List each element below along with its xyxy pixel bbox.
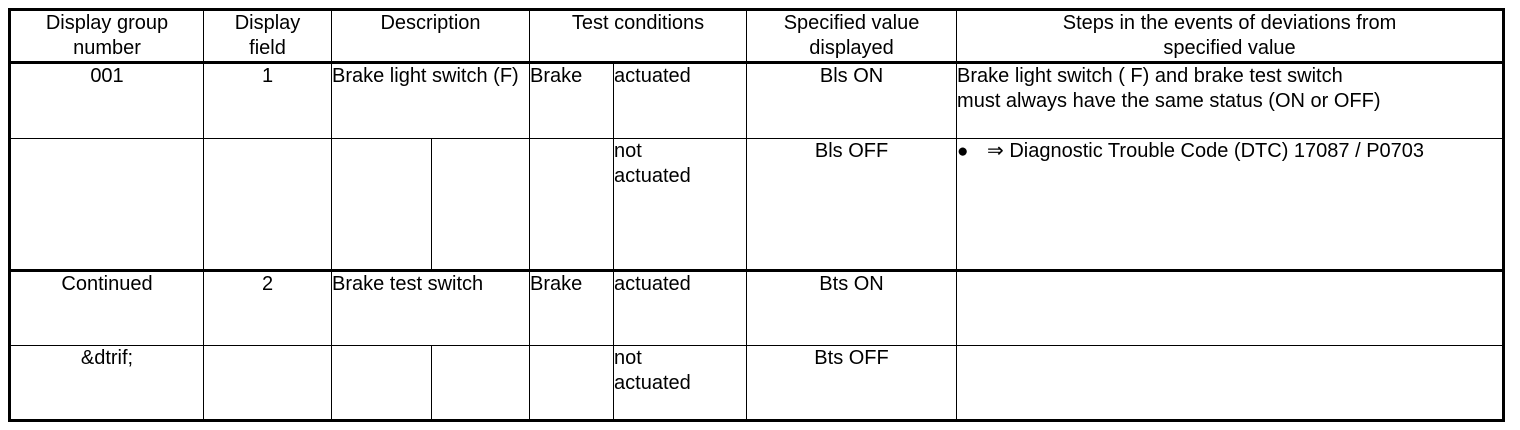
cell-test-condition-state: not actuated xyxy=(614,346,747,421)
cell-steps-on-deviation xyxy=(957,346,1504,421)
cell-display-field: 1 xyxy=(204,63,332,139)
header-display-group-number: Display group number xyxy=(10,10,204,63)
diagnostic-spec-table: Display group number Display field Descr… xyxy=(8,8,1505,422)
header-steps-on-deviation: Steps in the events of deviations from s… xyxy=(957,10,1504,63)
cell-display-group-number xyxy=(10,138,204,270)
cell-test-condition-subject xyxy=(530,138,614,270)
header-display-group-number-line2: number xyxy=(73,37,141,59)
table-row: &dtrif; not actuated Bts OFF xyxy=(10,346,1504,421)
cell-description-a xyxy=(332,138,432,270)
table-header: Display group number Display field Descr… xyxy=(10,10,1504,63)
cell-description-b xyxy=(432,138,530,270)
steps-bullet-text: Diagnostic Trouble Code (DTC) 17087 / P0… xyxy=(1009,140,1424,162)
double-arrow-icon: ⇒ xyxy=(987,140,1004,162)
header-specified-value: Specified value displayed xyxy=(747,10,957,63)
cell-display-field xyxy=(204,346,332,421)
cell-display-group-number: 001 xyxy=(10,63,204,139)
cell-description-a xyxy=(332,346,432,421)
steps-text-line2: must always have the same status (ON or … xyxy=(957,89,1502,114)
cell-description-b xyxy=(432,346,530,421)
document-page: Display group number Display field Descr… xyxy=(0,0,1520,430)
cell-test-condition-state: actuated xyxy=(614,63,747,139)
cell-test-condition-subject: Brake xyxy=(530,63,614,139)
bullet-icon: ● xyxy=(957,139,987,164)
cell-specified-value: Bts OFF xyxy=(747,346,957,421)
cell-specified-value: Bls OFF xyxy=(747,138,957,270)
test-condition-state-line2: actuated xyxy=(614,164,746,189)
header-description: Description xyxy=(332,10,530,63)
header-specified-value-line2: displayed xyxy=(809,37,894,59)
cell-test-condition-subject xyxy=(530,346,614,421)
cell-display-field: 2 xyxy=(204,270,332,346)
header-display-group-number-line1: Display group xyxy=(46,12,168,34)
cell-steps-on-deviation: ● ⇒ Diagnostic Trouble Code (DTC) 17087 … xyxy=(957,138,1504,270)
table-row: Continued 2 Brake test switch Brake actu… xyxy=(10,270,1504,346)
cell-display-group-number: Continued xyxy=(10,270,204,346)
cell-steps-on-deviation: Brake light switch ( F) and brake test s… xyxy=(957,63,1504,139)
test-condition-state-line2: actuated xyxy=(614,371,746,396)
cell-description: Brake test switch xyxy=(332,270,530,346)
header-steps-line2: specified value xyxy=(1163,37,1295,59)
table-body: 001 1 Brake light switch (F) Brake actua… xyxy=(10,63,1504,421)
cell-display-field xyxy=(204,138,332,270)
cell-display-group-number: &dtrif; xyxy=(10,346,204,421)
header-display-field-line1: Display xyxy=(235,12,301,34)
steps-bullet-content: ⇒ Diagnostic Trouble Code (DTC) 17087 / … xyxy=(987,139,1502,164)
cell-specified-value: Bls ON xyxy=(747,63,957,139)
header-specified-value-line1: Specified value xyxy=(784,12,920,34)
steps-text-line1: Brake light switch ( F) and brake test s… xyxy=(957,64,1502,89)
steps-bullet-item: ● ⇒ Diagnostic Trouble Code (DTC) 17087 … xyxy=(957,139,1502,164)
table-row: 001 1 Brake light switch (F) Brake actua… xyxy=(10,63,1504,139)
table-row: not actuated Bls OFF ● ⇒ Diagnostic Trou… xyxy=(10,138,1504,270)
header-display-field: Display field xyxy=(204,10,332,63)
header-row: Display group number Display field Descr… xyxy=(10,10,1504,63)
cell-description: Brake light switch (F) xyxy=(332,63,530,139)
cell-test-condition-state: not actuated xyxy=(614,138,747,270)
cell-steps-on-deviation xyxy=(957,270,1504,346)
cell-test-condition-state: actuated xyxy=(614,270,747,346)
header-steps-line1: Steps in the events of deviations from xyxy=(1063,12,1397,34)
test-condition-state-line1: not xyxy=(614,346,746,371)
header-display-field-line2: field xyxy=(249,37,286,59)
cell-test-condition-subject: Brake xyxy=(530,270,614,346)
header-test-conditions: Test conditions xyxy=(530,10,747,63)
cell-specified-value: Bts ON xyxy=(747,270,957,346)
test-condition-state-line1: not xyxy=(614,139,746,164)
